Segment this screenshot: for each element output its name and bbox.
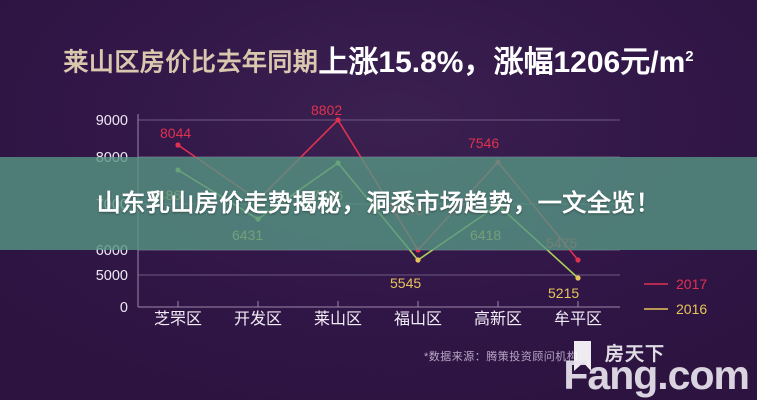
series-2016-point — [415, 257, 420, 262]
x-axis: 芝罘区 开发区 莱山区 福山区 高新区 牟平区 — [138, 301, 620, 328]
overlay-banner: 山东乳山房价走势揭秘，洞悉市场趋势，一文全览！ — [0, 157, 757, 250]
headline-unit: m — [659, 46, 686, 79]
chart-legend: 2017 2016 — [644, 276, 707, 317]
x-tick-fushan: 福山区 — [394, 310, 442, 328]
headline-unit-superscript: 2 — [685, 48, 693, 65]
x-tick-mouping: 牟平区 — [554, 310, 602, 328]
data-label-2016-fushan: 5545 — [390, 275, 421, 291]
infographic-root: 莱山区房价比去年同期上涨15.8%，涨幅1206元/m2 9000 8000 7… — [0, 0, 757, 400]
y-tick-4: 5000 — [96, 268, 128, 284]
series-2016-point — [575, 275, 580, 280]
series-2017-point — [335, 117, 340, 122]
x-tick-zhifu: 芝罘区 — [154, 310, 202, 328]
legend-label-2017[interactable]: 2017 — [676, 276, 707, 292]
series-2017-point — [575, 257, 580, 262]
series-2017-point — [175, 142, 180, 147]
page-title: 莱山区房价比去年同期上涨15.8%，涨幅1206元/m2 — [0, 48, 757, 78]
source-note: *数据来源：腾策投资顾问机构 — [424, 348, 578, 364]
data-label-2016-mouping: 5215 — [548, 285, 579, 301]
y-tick-0: 9000 — [96, 113, 128, 129]
legend-label-2016[interactable]: 2016 — [676, 301, 707, 317]
x-tick-gaoxin: 高新区 — [474, 310, 522, 328]
overlay-title: 山东乳山房价走势揭秘，洞悉市场趋势，一文全览！ — [89, 189, 669, 219]
data-label-2017-zhifu: 8044 — [160, 125, 191, 141]
x-tick-laishan: 莱山区 — [314, 310, 362, 328]
headline-part-b: 上涨15.8%，涨幅1206元/ — [318, 46, 658, 79]
x-tick-kaifa: 开发区 — [234, 310, 282, 328]
data-label-2017-laishan: 8802 — [311, 102, 342, 118]
y-tick-5: 0 — [120, 300, 128, 316]
data-label-2017-gaoxin: 7546 — [468, 135, 499, 151]
headline-part-a: 莱山区房价比去年同期 — [63, 49, 318, 77]
watermark-en: Fang.com — [563, 341, 749, 396]
watermark: 房天下 Fang.com — [563, 341, 749, 396]
